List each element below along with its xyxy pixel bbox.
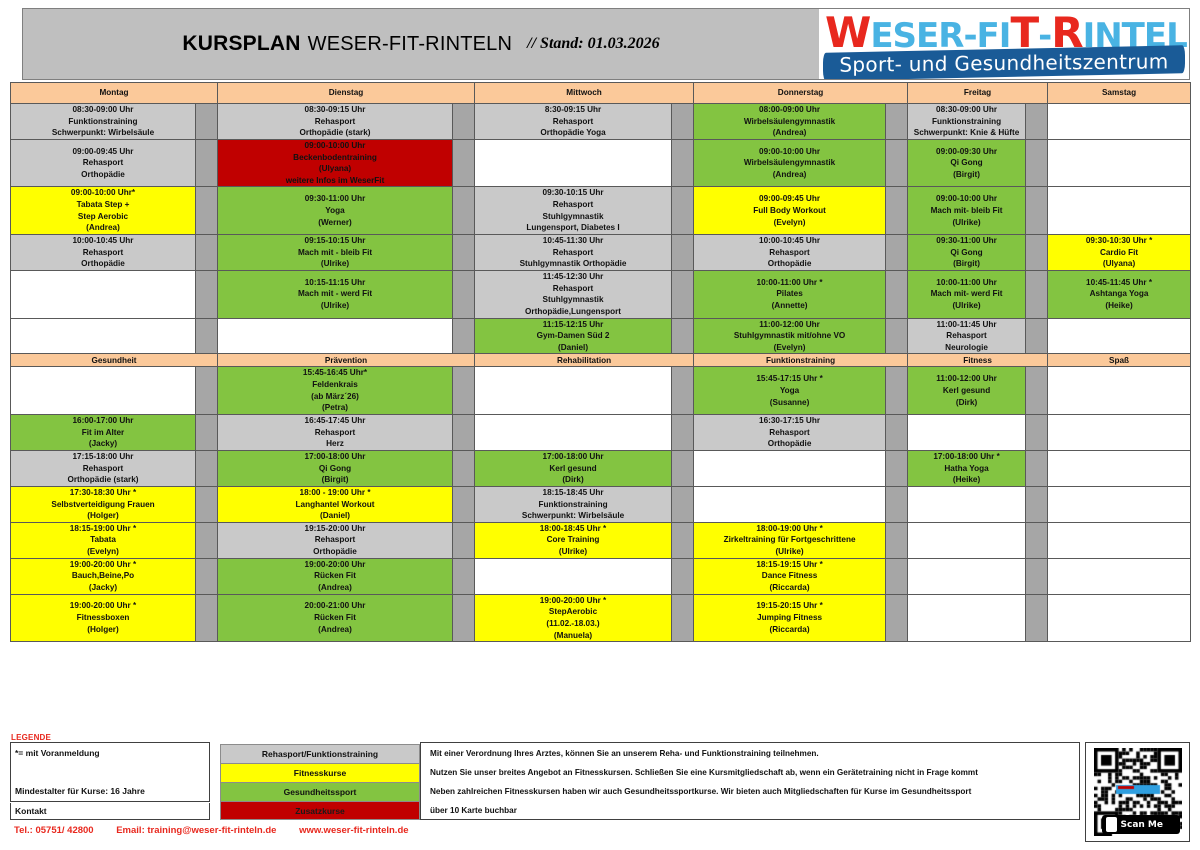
course-name: Qi Gong [908,247,1025,259]
course-cell[interactable]: 10:45-11:30 UhrRehasportStuhlgymnastik O… [475,235,672,271]
course-name: Selbstverteidigung Frauen [11,499,195,511]
course-time: 16:00-17:00 Uhr [11,415,195,427]
course-time: 09:00-10:00 Uhr [908,193,1025,205]
course-time: 09:30-10:30 Uhr * [1048,235,1190,247]
course-time: 11:15-12:15 Uhr [475,319,671,331]
empty-cell [1048,450,1191,486]
course-name: Qi Gong [218,463,452,475]
course-name: Step Aerobic [11,211,195,223]
course-cell[interactable]: 09:00-10:00 Uhr*Tabata Step +Step Aerobi… [11,187,196,235]
course-name: Funktionstraining [908,116,1025,128]
empty-cell [11,270,196,318]
course-name: Rehasport [11,157,195,169]
course-time: 18:00-19:00 Uhr * [694,523,885,535]
course-name: Tabata [11,534,195,546]
column-spacer [886,270,908,318]
column-spacer [886,367,908,415]
course-name: Rücken Fit [218,570,452,582]
logo-subtitle: Sport- und Gesundheitszentrum [823,47,1185,79]
logo-banner: Sport- und Gesundheitszentrum [823,45,1185,79]
course-name: Kerl gesund [908,385,1025,397]
empty-cell [475,415,672,451]
course-trainer: (Andrea) [218,624,452,636]
course-time: 09:00-10:00 Uhr [694,146,885,158]
column-spacer [886,318,908,354]
column-spacer [1026,270,1048,318]
course-name: Core Training [475,534,671,546]
course-trainer: Schwerpunkt: Wirbelsäule [11,127,195,139]
course-name: (11.02.-18.03.) [475,618,671,630]
course-time: 17:00-18:00 Uhr * [908,451,1025,463]
course-trainer: (Heike) [1048,300,1190,312]
legend-row: Rehasport/FunktionstrainingMit einer Ver… [220,744,1080,763]
course-cell[interactable]: 19:00-20:00 Uhr *StepAerobic(11.02.-18.0… [475,594,672,642]
course-trainer: (Andrea) [694,169,885,181]
schedule-row: 08:30-09:00 UhrFunktionstrainingSchwerpu… [11,104,1191,140]
column-spacer [453,522,475,558]
day-header-donnerstag: Donnerstag [694,83,908,104]
course-name: Funktionstraining [475,499,671,511]
column-spacer [1026,558,1048,594]
legend-note-mindestalter: Mindestalter für Kurse: 16 Jahre [15,786,145,796]
course-trainer: (Ulrike) [694,546,885,558]
course-name: Rücken Fit [218,612,452,624]
course-cell[interactable]: 09:15-10:15 UhrMach mit - bleib Fit(Ulri… [218,235,453,271]
course-cell[interactable]: 18:15-19:15 Uhr *Dance Fitness(Riccarda) [694,558,886,594]
course-name: Qi Gong [908,157,1025,169]
course-cell[interactable]: 10:00-10:45 UhrRehasportOrthopädie [694,235,886,271]
column-spacer [453,270,475,318]
course-trainer: Herz [218,438,452,450]
course-name: Ashtanga Yoga [1048,288,1190,300]
legend-notes-box: *= mit Voranmeldung Mindestalter für Kur… [10,742,210,802]
course-time: 10:45-11:45 Uhr * [1048,277,1190,289]
course-trainer: (Andrea) [11,222,195,234]
course-name: Zirkeltraining für Fortgeschrittene [694,534,885,546]
course-name: Rehasport [218,534,452,546]
course-cell[interactable]: 19:15-20:15 Uhr *Jumping Fitness(Riccard… [694,594,886,642]
course-trainer: Orthopädie,Lungensport [475,306,671,318]
legend-description: Nutzen Sie unser breites Angebot an Fitn… [420,763,1080,782]
course-time: 09:30-10:15 Uhr [475,187,671,199]
course-cell[interactable]: 15:45-16:45 Uhr*Feldenkrais(ab März´26)(… [218,367,453,415]
course-cell[interactable]: 10:00-11:00 Uhr *Pilates(Annette) [694,270,886,318]
course-cell[interactable]: 08:30-09:00 UhrFunktionstrainingSchwerpu… [908,104,1026,140]
category-row: GesundheitPräventionRehabilitationFunkti… [11,354,1191,367]
course-time: 10:45-11:30 Uhr [475,235,671,247]
day-header-montag: Montag [11,83,218,104]
course-cell[interactable]: 18:00-19:00 Uhr *Zirkeltraining für Fort… [694,522,886,558]
column-spacer [1026,318,1048,354]
course-name: StepAerobic [475,606,671,618]
schedule-row: 09:00-10:00 Uhr*Tabata Step +Step Aerobi… [11,187,1191,235]
course-name: Cardio Fit [1048,247,1190,259]
column-spacer [196,270,218,318]
course-trainer: Orthopädie [694,258,885,270]
course-name: Yoga [218,205,452,217]
category-label-fitness: Fitness [908,354,1048,367]
course-cell[interactable]: 19:00-20:00 Uhr *Fitnessboxen(Holger) [11,594,196,642]
column-spacer [886,104,908,140]
course-cell[interactable]: 11:15-12:15 UhrGym-Damen Süd 2(Daniel) [475,318,672,354]
course-trainer: Schwerpunkt: Knie & Hüfte [908,127,1025,139]
column-spacer [886,187,908,235]
course-trainer: (Birgit) [218,474,452,486]
contact-tel[interactable]: Tel.: 05751/ 42800 [14,825,94,836]
day-header-freitag: Freitag [908,83,1048,104]
column-spacer [196,558,218,594]
legend-row: FitnesskurseNutzen Sie unser breites Ang… [220,763,1080,782]
course-trainer: (Andrea) [694,127,885,139]
course-cell[interactable]: 11:00-12:00 UhrKerl gesund(Dirk) [908,367,1026,415]
course-cell[interactable]: 09:00-09:45 UhrRehasportOrthopädie [11,139,196,187]
schedule-row: 16:00-17:00 UhrFit im Alter(Jacky)16:45-… [11,415,1191,451]
course-trainer: Schwerpunkt: Wirbelsäule [475,510,671,522]
course-trainer: Orthopädie (stark) [218,127,452,139]
course-cell[interactable]: 17:30-18:30 Uhr *Selbstverteidigung Frau… [11,486,196,522]
course-time: 17:00-18:00 Uhr [218,451,452,463]
course-name: Fitnessboxen [11,612,195,624]
page-title: KURSPLAN WESER-FIT-RINTELN // Stand: 01.… [23,9,819,79]
scan-me-badge: Scan Me [1102,815,1180,834]
course-trainer: (Holger) [11,510,195,522]
column-spacer [1026,104,1048,140]
empty-cell [475,139,672,187]
legend-swatch-fitness: Fitnesskurse [220,763,420,782]
column-spacer [453,450,475,486]
course-name: (ab März´26) [218,391,452,403]
schedule-row: 15:45-16:45 Uhr*Feldenkrais(ab März´26)(… [11,367,1191,415]
course-time: 20:00-21:00 Uhr [218,600,452,612]
course-trainer: Orthopädie Yoga [475,127,671,139]
empty-cell [1048,367,1191,415]
course-time: 18:00 - 19:00 Uhr * [218,487,452,499]
course-cell[interactable]: 17:00-18:00 UhrQi Gong(Birgit) [218,450,453,486]
day-header-dienstag: Dienstag [218,83,475,104]
column-spacer [886,594,908,642]
legend-note-voranmeldung: *= mit Voranmeldung [15,748,100,758]
course-name: Rehasport [475,247,671,259]
course-time: 19:00-20:00 Uhr * [475,595,671,607]
column-spacer [886,522,908,558]
course-cell[interactable]: 19:00-20:00 UhrRücken Fit(Andrea) [218,558,453,594]
column-spacer [672,415,694,451]
course-trainer: (Holger) [11,624,195,636]
course-time: 11:00-11:45 Uhr [908,319,1025,331]
course-cell[interactable]: 08:30-09:15 UhrRehasportOrthopädie (star… [218,104,453,140]
column-spacer [886,235,908,271]
course-trainer: Orthopädie [11,258,195,270]
qr-code-box[interactable]: Scan Me [1085,742,1190,842]
course-trainer: Orthopädie [218,546,452,558]
phone-icon [1106,817,1117,832]
empty-cell [11,367,196,415]
course-trainer: (Dirk) [475,474,671,486]
empty-cell [11,318,196,354]
course-name: Wirbelsäulengymnastik [694,157,885,169]
empty-cell [1048,139,1191,187]
kursplan-page: KURSPLAN WESER-FIT-RINTELN // Stand: 01.… [0,0,1200,850]
column-spacer [672,522,694,558]
empty-cell [218,318,453,354]
course-trainer: (Ulrike) [908,300,1025,312]
course-name: Rehasport [475,283,671,295]
course-name: Stuhlgymnastik [475,294,671,306]
legend-section: *= mit Voranmeldung Mindestalter für Kur… [10,742,1190,842]
course-name: Langhantel Workout [218,499,452,511]
course-name: Full Body Workout [694,205,885,217]
course-trainer: (Ulrike) [218,300,452,312]
course-trainer: (Dirk) [908,397,1025,409]
course-cell[interactable]: 16:00-17:00 UhrFit im Alter(Jacky) [11,415,196,451]
course-cell[interactable]: 09:00-10:00 UhrBeckenbodentraining(Ulyan… [218,139,453,187]
day-header-samstag: Samstag [1048,83,1191,104]
category-label-gesundheit: Gesundheit [11,354,218,367]
schedule-row: 11:15-12:15 UhrGym-Damen Süd 2(Daniel)11… [11,318,1191,354]
schedule-row: 17:30-18:30 Uhr *Selbstverteidigung Frau… [11,486,1191,522]
course-cell[interactable]: 09:00-10:00 UhrMach mit- bleib Fit(Ulrik… [908,187,1026,235]
course-cell[interactable]: 17:00-18:00 UhrKerl gesund(Dirk) [475,450,672,486]
column-spacer [196,450,218,486]
column-spacer [1026,187,1048,235]
day-header-mittwoch: Mittwoch [475,83,694,104]
empty-cell [908,558,1026,594]
course-trainer: (Jacky) [11,582,195,594]
column-spacer [196,104,218,140]
column-spacer [886,139,908,187]
column-spacer [453,139,475,187]
empty-cell [694,450,886,486]
course-cell[interactable]: 09:30-11:00 UhrQi Gong(Birgit) [908,235,1026,271]
empty-cell [1048,522,1191,558]
course-cell[interactable]: 15:45-17:15 Uhr *Yoga(Susanne) [694,367,886,415]
schedule-table: Montag Dienstag Mittwoch Donnerstag Frei… [10,82,1191,642]
course-name: Wirbelsäulengymnastik [694,116,885,128]
empty-cell [1048,558,1191,594]
course-name: (Ulyana) [218,163,452,175]
course-cell[interactable]: 18:15-19:00 Uhr *Tabata(Evelyn) [11,522,196,558]
empty-cell [1048,318,1191,354]
title-kursplan: KURSPLAN [182,32,300,56]
column-spacer [1026,594,1048,642]
course-time: 18:00-18:45 Uhr * [475,523,671,535]
legend-swatch-zusatz: Zusatzkurse [220,801,420,820]
column-spacer [672,367,694,415]
column-spacer [453,486,475,522]
course-trainer: (Evelyn) [11,546,195,558]
legend-table: Rehasport/FunktionstrainingMit einer Ver… [220,744,1080,820]
title-stand-date: // Stand: 01.03.2026 [527,35,659,53]
course-name: Gym-Damen Süd 2 [475,330,671,342]
course-time: 09:30-11:00 Uhr [218,193,452,205]
course-cell[interactable]: 18:00 - 19:00 Uhr *Langhantel Workout(Da… [218,486,453,522]
column-spacer [196,187,218,235]
column-spacer [672,104,694,140]
title-company: WESER-FIT-RINTELN [308,33,513,56]
course-time: 11:45-12:30 Uhr [475,271,671,283]
course-cell[interactable]: 11:45-12:30 UhrRehasportStuhlgymnastikOr… [475,270,672,318]
course-cell[interactable]: 17:00-18:00 Uhr *Hatha Yoga(Heike) [908,450,1026,486]
course-time: 08:30-09:15 Uhr [218,104,452,116]
schedule-row: 10:15-11:15 UhrMach mit - werd Fit(Ulrik… [11,270,1191,318]
column-spacer [1026,367,1048,415]
course-time: 18:15-19:00 Uhr * [11,523,195,535]
course-trainer: Stuhlgymnastik Orthopädie [475,258,671,270]
course-time: 15:45-17:15 Uhr * [694,373,885,385]
course-cell[interactable]: 09:00-10:00 UhrWirbelsäulengymnastik(And… [694,139,886,187]
course-cell[interactable]: 08:00-09:00 UhrWirbelsäulengymnastik(And… [694,104,886,140]
course-time: 09:00-09:45 Uhr [694,193,885,205]
course-cell[interactable]: 10:45-11:45 Uhr *Ashtanga Yoga(Heike) [1048,270,1191,318]
course-trainer: Lungensport, Diabetes I [475,222,671,234]
legend-description: über 10 Karte buchbar [420,801,1080,820]
empty-cell [908,486,1026,522]
course-time: 17:30-18:30 Uhr * [11,487,195,499]
column-spacer [453,367,475,415]
empty-cell [908,594,1026,642]
course-name: Mach mit- werd Fit [908,288,1025,300]
course-trainer: (Annette) [694,300,885,312]
course-trainer: (Andrea) [218,582,452,594]
course-name: Stuhlgymnastik mit/ohne VO [694,330,885,342]
course-name: Bauch,Beine,Po [11,570,195,582]
column-spacer [453,558,475,594]
course-cell[interactable]: 11:00-11:45 UhrRehasportNeurologie [908,318,1026,354]
column-spacer [1026,235,1048,271]
course-name: Mach mit - werd Fit [218,288,452,300]
course-time: 09:00-09:30 Uhr [908,146,1025,158]
course-cell[interactable]: 10:15-11:15 UhrMach mit - werd Fit(Ulrik… [218,270,453,318]
course-time: 18:15-19:15 Uhr * [694,559,885,571]
course-cell[interactable]: 11:00-12:00 UhrStuhlgymnastik mit/ohne V… [694,318,886,354]
column-spacer [1026,450,1048,486]
column-spacer [453,235,475,271]
course-cell[interactable]: 10:00-11:00 UhrMach mit- werd Fit(Ulrike… [908,270,1026,318]
legend-description: Neben zahlreichen Fitnesskursen haben wi… [420,782,1080,801]
course-cell[interactable]: 09:00-09:45 UhrFull Body Workout(Evelyn) [694,187,886,235]
course-trainer: (Petra) [218,402,452,414]
column-spacer [453,104,475,140]
column-spacer [886,486,908,522]
course-trainer: Neurologie [908,342,1025,354]
column-spacer [672,187,694,235]
column-spacer [196,594,218,642]
course-trainer: (Evelyn) [694,217,885,229]
course-cell[interactable]: 10:00-10:45 UhrRehasportOrthopädie [11,235,196,271]
contact-web[interactable]: www.weser-fit-rinteln.de [299,825,408,836]
course-trainer: (Riccarda) [694,582,885,594]
column-spacer [196,522,218,558]
course-cell[interactable]: 19:15-20:00 UhrRehasportOrthopädie [218,522,453,558]
course-cell[interactable]: 09:30-10:15 UhrRehasportStuhlgymnastikLu… [475,187,672,235]
course-name: Beckenbodentraining [218,152,452,164]
column-spacer [1026,139,1048,187]
course-trainer: (Riccarda) [694,624,885,636]
course-name: Yoga [694,385,885,397]
course-cell[interactable]: 09:30-10:30 Uhr *Cardio Fit(Ulyana) [1048,235,1191,271]
column-spacer [672,594,694,642]
page-header: KURSPLAN WESER-FIT-RINTELN // Stand: 01.… [22,8,1190,80]
schedule-row: 10:00-10:45 UhrRehasportOrthopädie09:15-… [11,235,1191,271]
course-trainer: Orthopädie [11,169,195,181]
course-cell[interactable]: 18:00-18:45 Uhr *Core Training(Ulrike) [475,522,672,558]
legend-row: GesundheitssportNeben zahlreichen Fitnes… [220,782,1080,801]
course-trainer: (Susanne) [694,397,885,409]
course-name: Rehasport [694,427,885,439]
column-spacer [672,450,694,486]
empty-cell [908,415,1026,451]
course-trainer: (Jacky) [11,438,195,450]
course-trainer: (Evelyn) [694,342,885,354]
course-cell[interactable]: 09:00-09:30 UhrQi Gong(Birgit) [908,139,1026,187]
course-trainer: (Werner) [218,217,452,229]
empty-cell [1048,486,1191,522]
category-label-spaß: Spaß [1048,354,1191,367]
column-spacer [453,187,475,235]
course-cell[interactable]: 08:30-09:00 UhrFunktionstrainingSchwerpu… [11,104,196,140]
course-cell[interactable]: 18:15-18:45 UhrFunktionstrainingSchwerpu… [475,486,672,522]
empty-cell [694,486,886,522]
column-spacer [1026,522,1048,558]
course-name: Funktionstraining [11,116,195,128]
course-name: Rehasport [475,116,671,128]
legend-description: Mit einer Verordnung Ihres Arztes, könne… [420,744,1080,763]
course-time: 10:15-11:15 Uhr [218,277,452,289]
course-trainer: (Ulrike) [908,217,1025,229]
course-trainer: weitere Infos im WeserFit [218,175,452,187]
course-time: 16:30-17:15 Uhr [694,415,885,427]
course-name: Pilates [694,288,885,300]
empty-cell [908,522,1026,558]
category-label-funktionstraining: Funktionstraining [694,354,908,367]
course-time: 19:15-20:15 Uhr * [694,600,885,612]
column-spacer [453,318,475,354]
column-spacer [196,235,218,271]
course-name: Kerl gesund [475,463,671,475]
category-label-prävention: Prävention [218,354,475,367]
course-time: 09:00-10:00 Uhr [218,140,452,152]
course-trainer: (Ulrike) [475,546,671,558]
course-time: 19:15-20:00 Uhr [218,523,452,535]
course-cell[interactable]: 19:00-20:00 Uhr *Bauch,Beine,Po(Jacky) [11,558,196,594]
course-time: 8:30-09:15 Uhr [475,104,671,116]
contact-line: Tel.: 05751/ 42800 Email: training@weser… [14,825,429,836]
course-cell[interactable]: 16:45-17:45 UhrRehasportHerz [218,415,453,451]
course-name: Fit im Alter [11,427,195,439]
column-spacer [196,139,218,187]
empty-cell [1048,594,1191,642]
course-cell[interactable]: 20:00-21:00 UhrRücken Fit(Andrea) [218,594,453,642]
course-time: 19:00-20:00 Uhr [218,559,452,571]
course-trainer: (Daniel) [475,342,671,354]
course-time: 11:00-12:00 Uhr [694,319,885,331]
course-cell[interactable]: 16:30-17:15 UhrRehasportOrthopädie [694,415,886,451]
column-spacer [886,558,908,594]
column-spacer [672,318,694,354]
course-name: Jumping Fitness [694,612,885,624]
course-time: 10:00-11:00 Uhr * [694,277,885,289]
course-time: 09:15-10:15 Uhr [218,235,452,247]
contact-email[interactable]: Email: training@weser-fit-rinteln.de [116,825,276,836]
course-cell[interactable]: 17:15-18:00 UhrRehasportOrthopädie (star… [11,450,196,486]
course-cell[interactable]: 09:30-11:00 UhrYoga(Werner) [218,187,453,235]
course-time: 11:00-12:00 Uhr [908,373,1025,385]
course-name: Rehasport [218,116,452,128]
course-trainer: (Birgit) [908,169,1025,181]
course-cell[interactable]: 8:30-09:15 UhrRehasportOrthopädie Yoga [475,104,672,140]
category-label-rehabilitation: Rehabilitation [475,354,694,367]
course-time: 19:00-20:00 Uhr * [11,559,195,571]
